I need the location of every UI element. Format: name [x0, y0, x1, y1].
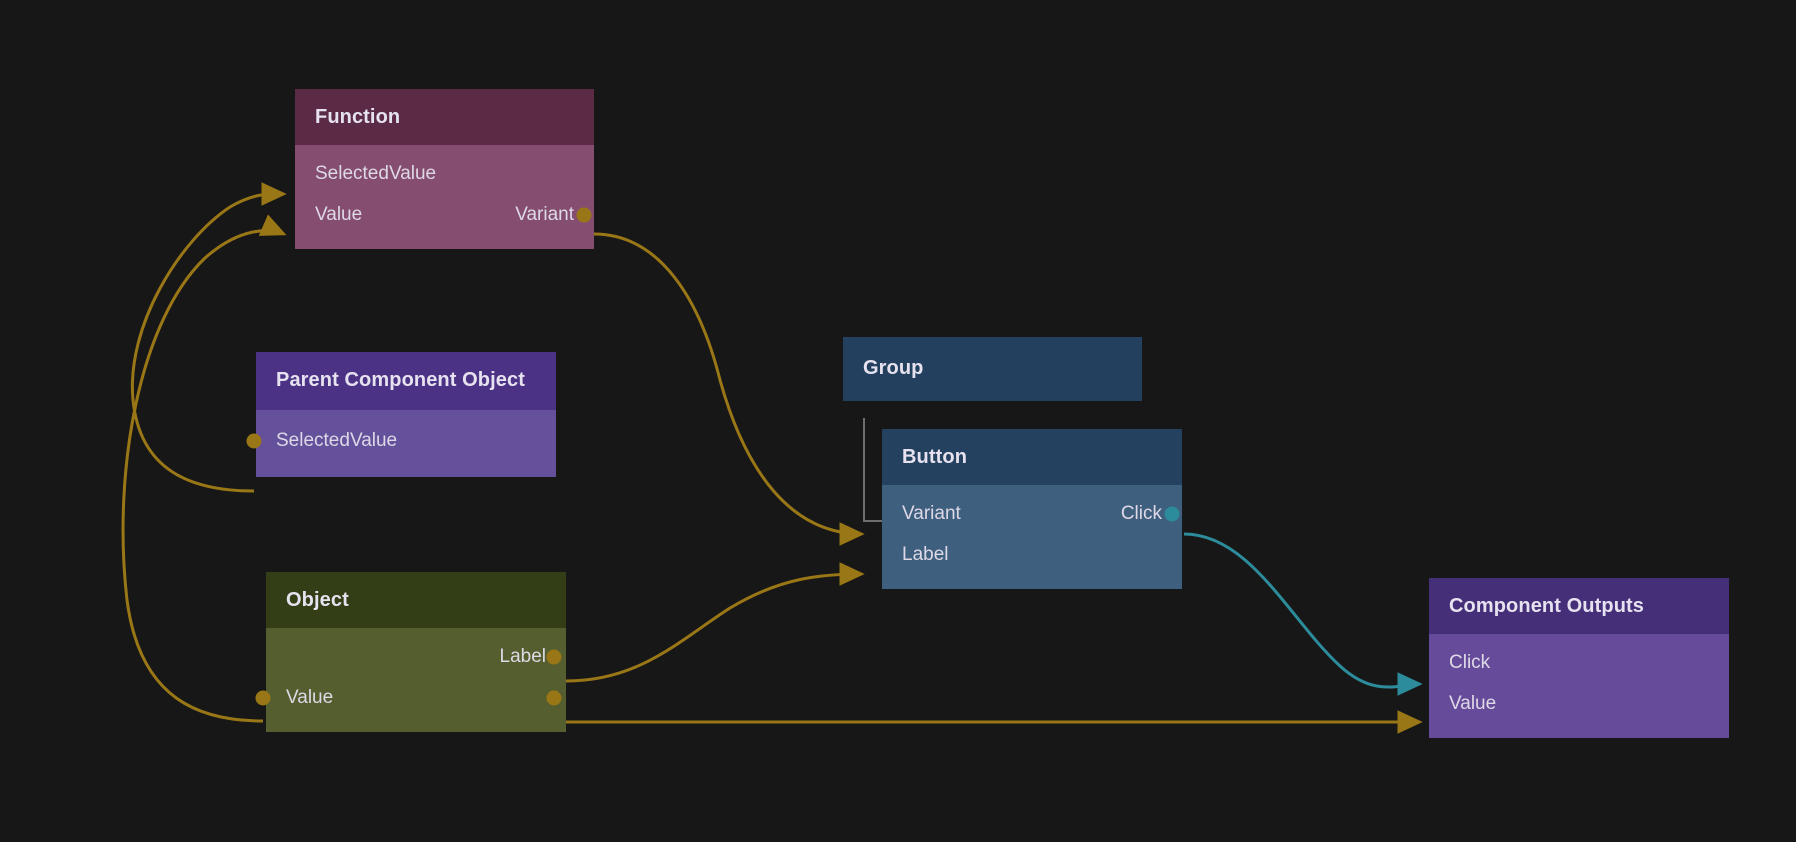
- node-parent-component-object-title: Parent Component Object: [256, 352, 556, 410]
- port-label-componentoutputs-value: Value: [1449, 693, 1496, 715]
- port-dot-function-variant[interactable]: [577, 207, 592, 222]
- node-function[interactable]: Function SelectedValue Value Variant: [295, 89, 594, 249]
- node-graph-canvas[interactable]: Function SelectedValue Value Variant Par…: [0, 0, 1796, 842]
- node-group-title: Group: [843, 337, 1142, 401]
- node-parent-component-object[interactable]: Parent Component Object SelectedValue: [256, 352, 556, 477]
- port-row-button-label[interactable]: Label: [882, 534, 1182, 575]
- port-row-parentcomponent-selectedvalue[interactable]: SelectedValue: [256, 420, 556, 461]
- node-parent-component-object-ports: SelectedValue: [256, 410, 556, 477]
- port-label-function-value: Value: [315, 204, 362, 226]
- node-object-ports: Label Value: [266, 628, 566, 732]
- port-label-button-click: Click: [1121, 503, 1162, 525]
- node-component-outputs-ports: Click Value: [1429, 634, 1729, 738]
- port-dot-object-label[interactable]: [547, 649, 562, 664]
- port-label-button-variant: Variant: [902, 503, 961, 525]
- port-row-object-value[interactable]: Value: [266, 677, 566, 718]
- port-row-componentoutputs-value[interactable]: Value: [1429, 683, 1729, 724]
- port-label-button-label: Label: [902, 544, 949, 566]
- port-dot-object-value-in[interactable]: [256, 690, 271, 705]
- edge-object-label-to-button-label: [566, 574, 862, 681]
- node-component-outputs-title: Component Outputs: [1429, 578, 1729, 634]
- port-label-object-label: Label: [500, 646, 547, 668]
- port-row-object-label[interactable]: Label: [266, 636, 566, 677]
- edge-function-variant-to-button-variant: [594, 234, 862, 534]
- node-object-title: Object: [266, 572, 566, 628]
- port-row-function-value-variant[interactable]: Value Variant: [295, 194, 594, 235]
- node-button-ports: Variant Click Label: [882, 485, 1182, 589]
- port-label-parentcomponent-selectedvalue: SelectedValue: [276, 430, 397, 452]
- port-label-function-variant: Variant: [515, 204, 574, 226]
- node-group[interactable]: Group: [843, 337, 1142, 401]
- port-label-function-selectedvalue: SelectedValue: [315, 163, 436, 185]
- port-row-componentoutputs-click[interactable]: Click: [1429, 642, 1729, 683]
- node-function-ports: SelectedValue Value Variant: [295, 145, 594, 249]
- edge-button-click-to-componentoutputs-click: [1184, 534, 1420, 687]
- port-dot-button-click[interactable]: [1165, 506, 1180, 521]
- node-button-title: Button: [882, 429, 1182, 485]
- node-function-title: Function: [295, 89, 594, 145]
- node-component-outputs[interactable]: Component Outputs Click Value: [1429, 578, 1729, 738]
- port-row-function-selectedvalue[interactable]: SelectedValue: [295, 153, 594, 194]
- port-dot-object-value-out[interactable]: [547, 690, 562, 705]
- port-dot-parentcomponent-selectedvalue[interactable]: [247, 433, 262, 448]
- node-object[interactable]: Object Label Value: [266, 572, 566, 732]
- port-row-button-variant-click[interactable]: Variant Click: [882, 493, 1182, 534]
- port-label-object-value: Value: [286, 687, 333, 709]
- node-button[interactable]: Button Variant Click Label: [882, 429, 1182, 589]
- port-label-componentoutputs-click: Click: [1449, 652, 1490, 674]
